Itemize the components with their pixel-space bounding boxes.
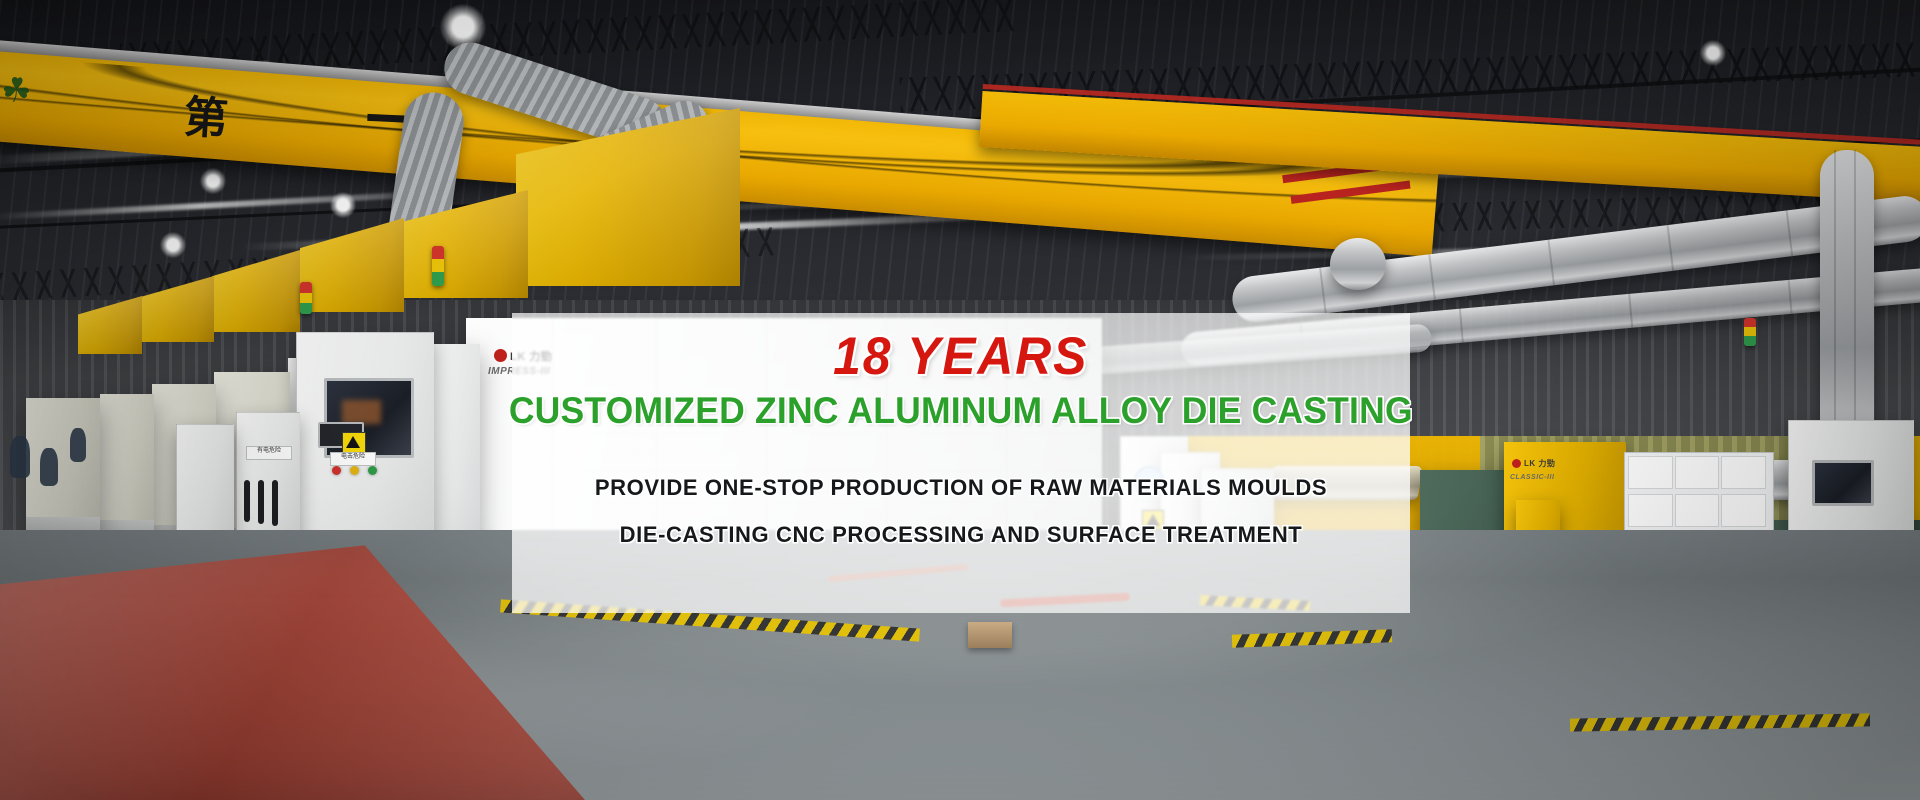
cable bbox=[272, 480, 278, 526]
ceiling-lamp bbox=[160, 232, 186, 258]
die-casting-machine bbox=[100, 394, 154, 544]
sub-line-1: PROVIDE ONE-STOP PRODUCTION OF RAW MATER… bbox=[595, 475, 1327, 501]
machine-model-label: CLASSIC-III bbox=[1510, 474, 1554, 481]
ceiling-lamp bbox=[200, 168, 226, 194]
die-casting-machine bbox=[26, 398, 100, 540]
lk-logo-icon bbox=[494, 349, 507, 362]
worker-silhouette bbox=[10, 436, 30, 478]
ceiling-lamp bbox=[330, 192, 356, 218]
headline-years: 18 YEARS bbox=[833, 329, 1088, 385]
machine-brand-text: LK 力勁 bbox=[1524, 459, 1555, 468]
hmi-screen bbox=[1812, 460, 1874, 506]
sub-line-2: DIE-CASTING CNC PROCESSING AND SURFACE T… bbox=[620, 522, 1303, 548]
stack-light bbox=[300, 282, 312, 314]
stack-light bbox=[1744, 318, 1756, 346]
safety-plate: 电击危险 bbox=[330, 452, 376, 466]
control-button-yellow bbox=[350, 466, 359, 475]
control-button-green bbox=[368, 466, 377, 475]
wooden-block bbox=[968, 622, 1012, 648]
cable bbox=[258, 480, 264, 524]
warning-label bbox=[342, 432, 366, 454]
headline-main: CUSTOMIZED ZINC ALUMINUM ALLOY DIE CASTI… bbox=[509, 391, 1413, 432]
stack-light bbox=[432, 246, 444, 286]
banner-copy: 18 YEARS CUSTOMIZED ZINC ALUMINUM ALLOY … bbox=[512, 313, 1410, 613]
ceiling-lamp bbox=[1700, 40, 1726, 66]
crane-emblem-icon: ☘ bbox=[0, 67, 40, 114]
lk-logo-icon bbox=[1512, 459, 1521, 468]
duct-elbow bbox=[1330, 238, 1386, 290]
cabinet-label: 有电危险 bbox=[246, 446, 292, 460]
crane-marking-text: 第 bbox=[182, 81, 230, 148]
worker-silhouette bbox=[40, 448, 58, 486]
factory-banner: ☘ 第 bbox=[0, 0, 1920, 800]
cable bbox=[244, 480, 250, 522]
control-button-red bbox=[332, 466, 341, 475]
worker-silhouette bbox=[70, 428, 86, 462]
machine-brand-label: LK 力勁 bbox=[1512, 458, 1555, 469]
warning-triangle-icon bbox=[346, 436, 360, 448]
